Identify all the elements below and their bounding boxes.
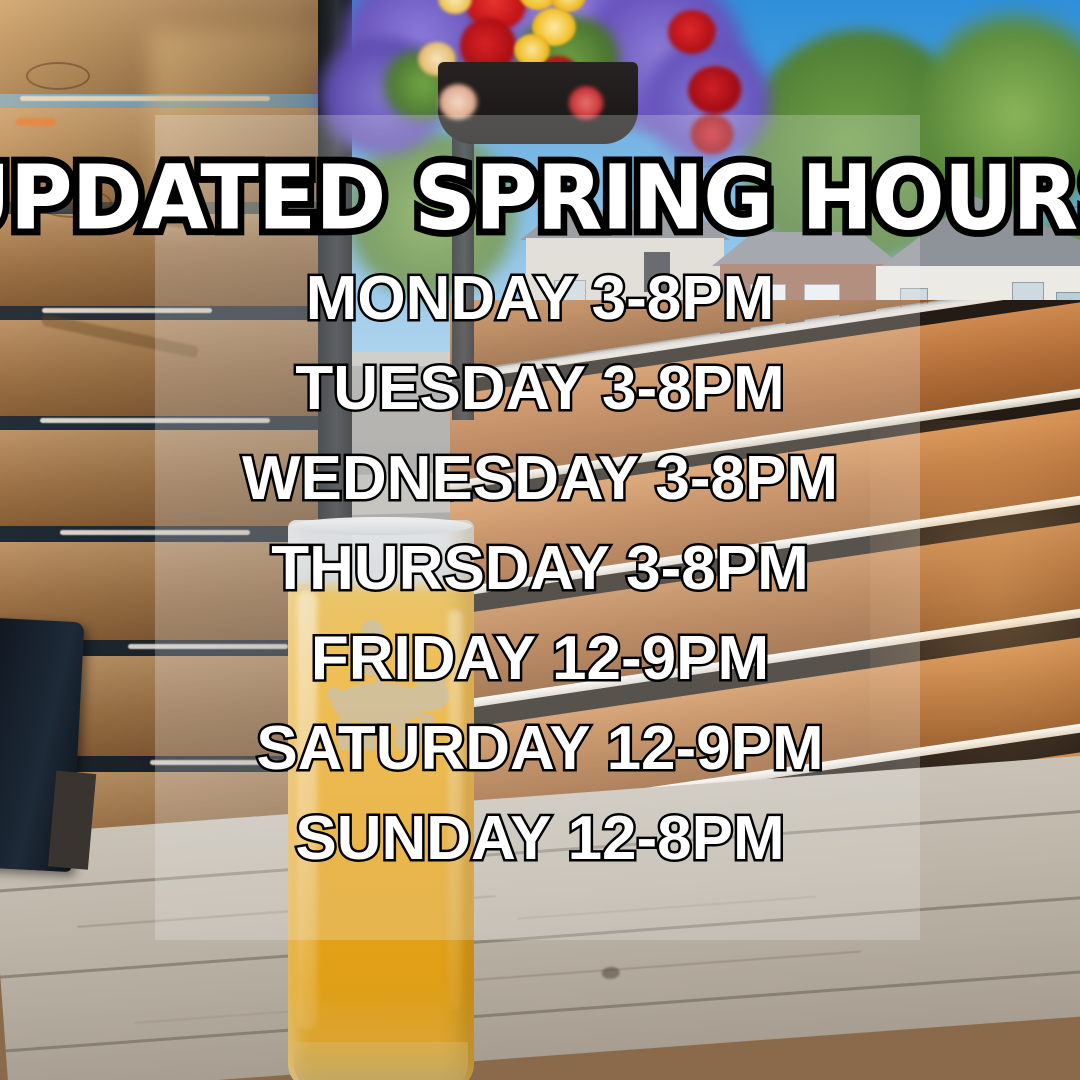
poster-canvas: UPDATED SPRING HOURS MONDAY 3-8PM TUESDA… [0,0,1080,1080]
photo-background [0,0,1080,1080]
translucent-overlay [155,115,920,940]
patio-chair [0,618,84,872]
